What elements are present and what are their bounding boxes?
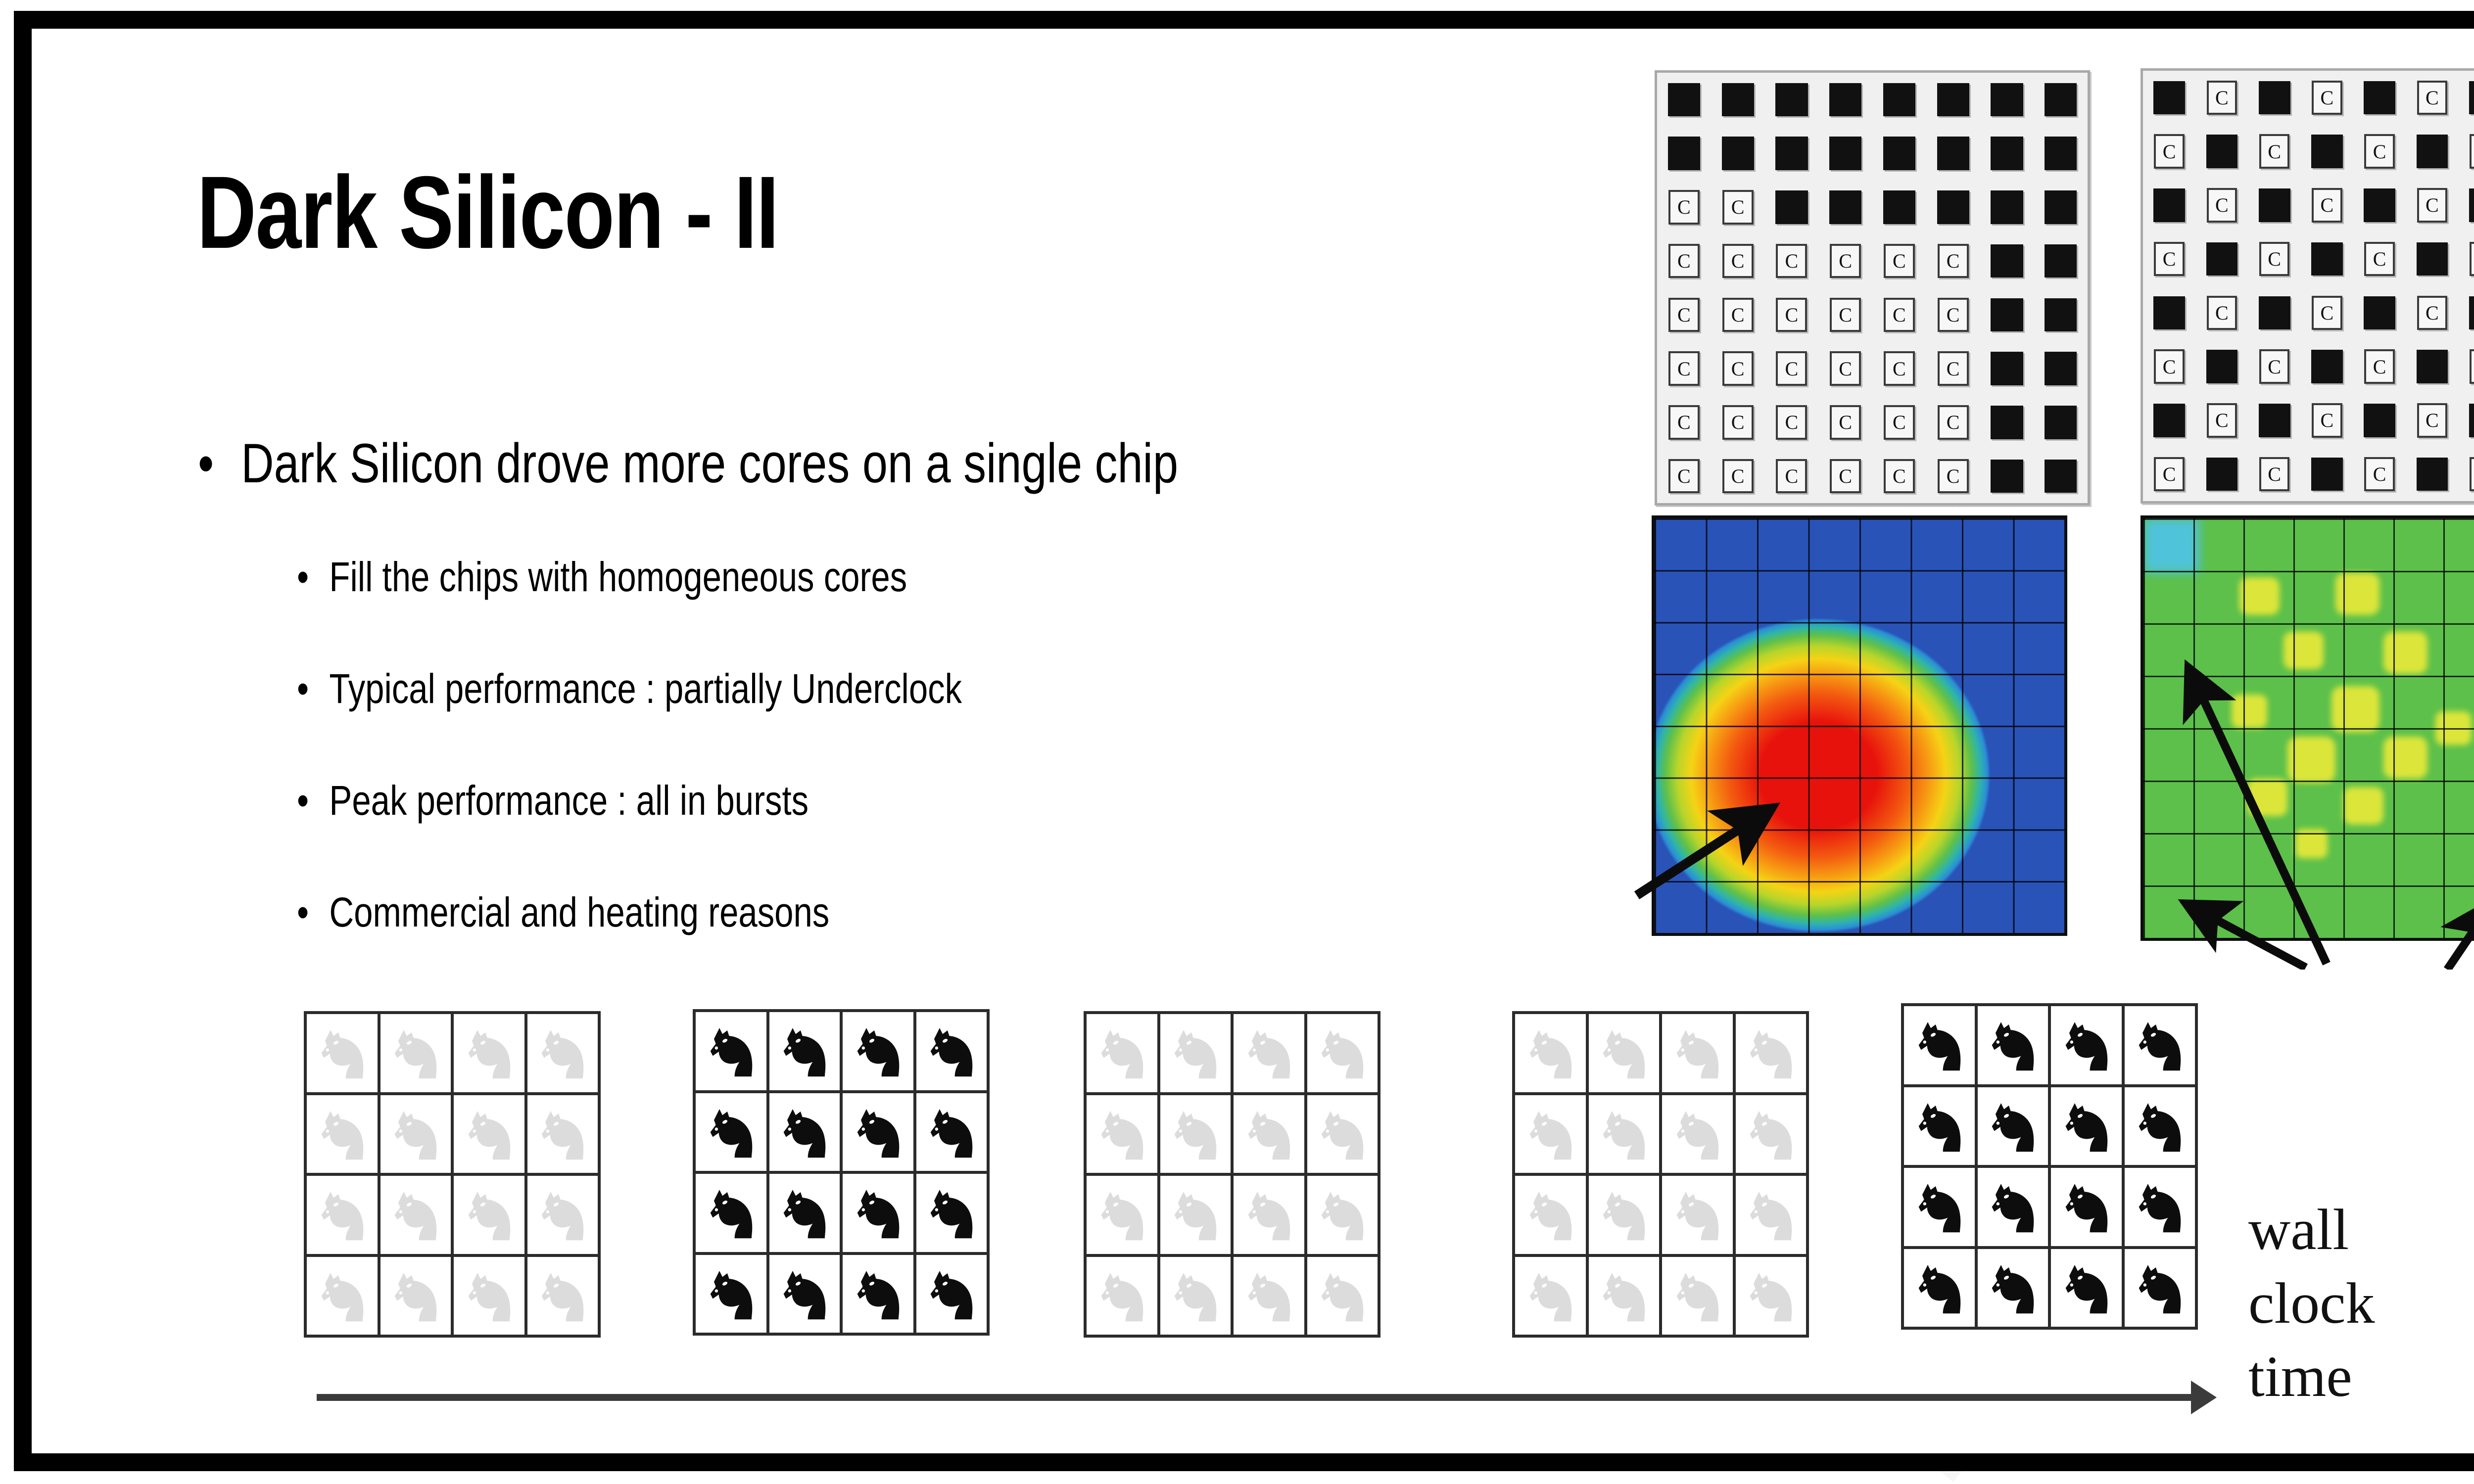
core-cell-idle [1515,1095,1586,1173]
chess-knight-icon [385,1101,446,1167]
core-label: C [1884,244,1915,278]
dark-silicon-block [2364,404,2395,437]
chip-core-cell: C [1872,342,1926,396]
chip-core-cell: C [2353,125,2406,179]
chess-knight-icon [1909,1012,1970,1078]
chip-core-cell: C [1657,234,1711,288]
core-label: C [1722,459,1754,494]
core-cell-idle [1087,1014,1157,1092]
chess-knight-icon [1092,1020,1152,1086]
chip-dark-cell [2301,232,2353,286]
chip-dark-cell [2034,73,2088,127]
bullet-text: Typical performance : partially Underclo… [329,665,962,712]
chess-knight-icon [701,1260,761,1327]
chip-dark-cell [1872,181,1926,234]
dark-silicon-block [1883,190,1915,224]
chip-core-cell: C [1926,234,1980,288]
core-label: C [2312,403,2342,438]
dark-silicon-block [1991,137,2023,170]
chip-core-cell: C [2459,232,2474,286]
core-cell-idle [1307,1014,1378,1092]
chip-core-cell: C [1926,288,1980,342]
chip-dark-cell [2143,286,2195,340]
chess-knight-icon [1909,1093,1970,1159]
chip-dark-cell [2301,340,2353,394]
dark-silicon-block [1883,137,1915,170]
core-label: C [2417,296,2448,330]
dark-silicon-block [2469,81,2474,114]
chip-core-cell: C [1926,449,1980,503]
core-cell-idle [1515,1257,1586,1335]
chess-knight-icon [774,1099,835,1165]
dark-silicon-block [2259,404,2290,437]
core-cell-idle [1515,1014,1586,1092]
chess-knight-icon [1740,1262,1801,1329]
chip-core-cell: C [2353,340,2406,394]
chess-knight-icon [1238,1181,1299,1248]
chess-knight-icon [774,1179,835,1246]
chess-knight-icon [532,1020,593,1086]
core-cell-idle [1662,1257,1733,1335]
chip-diagram-underclocked: CCCCCCCCCCCCCCCCCCCCCCCCCCCCCCCC [1655,70,2090,506]
chess-knight-icon [459,1181,520,1248]
chip-dark-cell [2195,232,2248,286]
chip-dark-cell [2459,286,2474,340]
core-cell-active [2125,1006,2195,1084]
chip-dark-cell [1711,127,1765,181]
wall-clock-timeline-axis [317,1394,2197,1401]
core-label: C [2312,81,2342,115]
core-cell-active [769,1255,840,1333]
core-cell-active [1978,1006,2048,1084]
chess-knight-icon [1740,1181,1801,1248]
chess-knight-icon [1312,1101,1373,1167]
dark-silicon-block [1991,352,2023,385]
chip-core-cell: C [1818,449,1872,503]
chess-knight-icon [1238,1262,1299,1329]
dark-silicon-block [1991,190,2023,224]
core-cell-idle [1160,1014,1231,1092]
chip-dark-cell [2406,447,2458,501]
core-label: C [1830,459,1861,494]
chip-core-cell: C [2353,232,2406,286]
dark-silicon-block [2045,244,2077,278]
chess-knight-icon [848,1179,908,1246]
core-cell-idle [1589,1257,1660,1335]
chess-knight-icon [2129,1012,2190,1078]
chip-core-cell: C [2459,447,2474,501]
chip-core-cell: C [2143,232,2195,286]
chess-knight-icon [312,1020,373,1086]
timeline-axis-label-line: clock [2248,1267,2375,1341]
core-label: C [2364,242,2395,277]
chip-dark-cell [2034,288,2088,342]
chip-dark-cell [2248,71,2301,125]
core-cell-idle [1234,1176,1304,1254]
chip-core-cell: C [2459,340,2474,394]
chess-knight-icon [532,1101,593,1167]
core-cell-idle [1589,1095,1660,1173]
core-label: C [1884,298,1915,332]
bullet-level2-2: •Peak performance : all in bursts [297,777,809,825]
chip-dark-cell [1980,288,2034,342]
core-cell-active [843,1255,913,1333]
chess-knight-icon [1667,1181,1728,1248]
chip-dark-cell [2034,181,2088,234]
core-cell-idle [454,1176,524,1254]
core-label: C [2470,134,2474,169]
chip-dark-cell [1657,127,1711,181]
dark-silicon-block [2364,188,2395,222]
chess-knight-icon [1740,1020,1801,1086]
core-cell-idle [1234,1257,1304,1335]
chip-dark-cell [2406,340,2458,394]
core-cell-idle [307,1257,378,1335]
core-label: C [1722,351,1754,386]
core-cell-idle [1087,1176,1157,1254]
core-label: C [1830,298,1861,332]
chip-dark-cell [2248,179,2301,232]
hotspot-arrow [1628,772,1806,920]
core-cell-idle [454,1257,524,1335]
dark-silicon-block [1937,83,1969,116]
core-cell-idle [1307,1095,1378,1173]
core-cell-idle [527,1014,598,1092]
core-cell-active [916,1012,987,1090]
chip-dark-cell [1711,73,1765,127]
chip-dark-cell [2143,394,2195,448]
chess-knight-icon [1520,1181,1581,1248]
core-label: C [1668,459,1700,494]
chip-dark-cell [1980,396,2034,450]
core-label: C [2364,457,2395,492]
dark-silicon-block [2153,81,2185,114]
chip-core-cell: C [1926,396,1980,450]
chip-dark-cell [2248,394,2301,448]
dark-silicon-block [2206,458,2238,491]
chip-dark-cell [2143,179,2195,232]
chess-knight-icon [1982,1093,2043,1159]
core-cell-idle [527,1176,598,1254]
chess-knight-icon [2056,1254,2117,1321]
core-grid-idle-2 [1084,1011,1380,1338]
core-cell-active [1904,1087,1975,1165]
dark-silicon-block [2364,81,2395,114]
core-label: C [2259,242,2290,277]
chess-knight-icon [1982,1254,2043,1321]
core-cell-active [843,1012,913,1090]
chip-dark-cell [1980,234,2034,288]
chess-knight-icon [1238,1101,1299,1167]
core-cell-active [1904,1249,1975,1327]
chess-knight-icon [774,1260,835,1327]
chip-dark-cell [1818,181,1872,234]
core-label: C [2259,457,2290,492]
chip-core-cell: C [2353,447,2406,501]
dark-silicon-block [2417,242,2448,276]
core-cell-idle [1662,1176,1733,1254]
chess-knight-icon [921,1179,982,1246]
chess-knight-icon [2056,1173,2117,1240]
dark-silicon-block [2045,352,2077,385]
chess-knight-icon [2056,1093,2117,1159]
dark-silicon-block [2045,298,2077,331]
chess-knight-icon [1165,1020,1226,1086]
chip-dark-cell [2353,71,2406,125]
timeline-arrowhead-icon [2191,1381,2217,1414]
dark-silicon-block [2206,350,2238,383]
core-label: C [1776,351,1807,386]
core-label: C [2312,296,2342,330]
core-cell-idle [307,1176,378,1254]
chip-core-cell: C [1765,234,1819,288]
core-cell-idle [1736,1095,1807,1173]
core-label: C [1776,405,1807,440]
chip-dark-cell [2353,286,2406,340]
core-label: C [1938,405,1969,440]
chess-knight-icon [1520,1020,1581,1086]
timeline-axis-label-line: time [2248,1340,2375,1414]
chip-core-cell: C [1657,181,1711,234]
core-label: C [1830,351,1861,386]
core-cell-active [1978,1087,2048,1165]
chip-dark-cell [1818,127,1872,181]
chip-core-cell: C [2195,179,2248,232]
chess-knight-icon [701,1018,761,1084]
core-cell-idle [381,1014,451,1092]
chip-dark-cell [1980,181,2034,234]
dark-silicon-block [2045,406,2077,439]
dark-silicon-block [2364,296,2395,329]
core-label: C [2470,457,2474,492]
chip-diagram-checkerboard: CCCCCCCCCCCCCCCCCCCCCCCCCCCCCCCC [2141,68,2474,504]
core-cell-idle [1589,1176,1660,1254]
chess-knight-icon [312,1262,373,1329]
dark-silicon-block [2153,296,2185,329]
dark-silicon-block [2045,83,2077,116]
chip-dark-cell [1765,181,1819,234]
core-label: C [2154,349,2185,384]
dark-silicon-block [2206,242,2238,276]
chess-knight-icon [1667,1020,1728,1086]
core-grid-active-1 [693,1009,990,1336]
core-cell-active [2051,1168,2122,1246]
chip-core-cell: C [1926,342,1980,396]
dark-silicon-block [1991,83,2023,116]
chip-core-cell: C [1711,342,1765,396]
chip-core-cell: C [1872,449,1926,503]
chip-dark-cell [1980,342,2034,396]
chip-core-cell: C [1711,234,1765,288]
chip-core-cell: C [2406,71,2458,125]
core-grid-idle-3 [1512,1011,1809,1338]
core-label: C [2154,457,2185,492]
core-cell-idle [1736,1014,1807,1092]
chess-knight-icon [1520,1262,1581,1329]
chip-dark-cell [2034,234,2088,288]
dark-silicon-block [2311,458,2343,491]
chip-core-cell: C [1765,396,1819,450]
core-cell-active [769,1174,840,1252]
chess-knight-icon [1909,1254,1970,1321]
dark-silicon-block [1668,137,1700,170]
core-cell-idle [1662,1095,1733,1173]
dark-silicon-block [2153,404,2185,437]
core-label: C [1722,244,1754,278]
core-cell-active [2051,1249,2122,1327]
core-label: C [2470,242,2474,277]
core-cell-idle [1589,1014,1660,1092]
chip-core-cell: C [1818,288,1872,342]
core-label: C [1668,405,1700,440]
chip-core-cell: C [1711,449,1765,503]
dark-silicon-block [1829,83,1861,116]
core-cell-active [2125,1168,2195,1246]
core-cell-active [1904,1006,1975,1084]
core-label: C [1668,351,1700,386]
chip-dark-cell [1872,73,1926,127]
dark-silicon-block [1775,83,1808,116]
core-label: C [1668,244,1700,278]
core-cell-idle [1234,1095,1304,1173]
bullet-marker: • [198,431,241,495]
core-cell-idle [381,1176,451,1254]
chess-knight-icon [312,1101,373,1167]
chip-core-cell: C [2459,125,2474,179]
chip-dark-cell [2301,447,2353,501]
dark-silicon-block [1937,137,1969,170]
chess-knight-icon [1312,1262,1373,1329]
bullet-text: Dark Silicon drove more cores on a singl… [241,432,1178,494]
core-label: C [2207,188,2237,223]
timeline-axis-label-line: wall [2248,1193,2375,1267]
core-cell-idle [1087,1257,1157,1335]
core-cell-idle [307,1095,378,1173]
core-label: C [2312,188,2342,223]
dark-silicon-block [1991,460,2023,493]
chip-core-cell: C [1711,288,1765,342]
core-label: C [2207,403,2237,438]
chip-core-cell: C [2143,125,2195,179]
core-label: C [2417,188,2448,223]
chess-knight-icon [1593,1101,1654,1167]
chess-knight-icon [1982,1012,2043,1078]
dark-silicon-block [2469,296,2474,329]
chip-dark-cell [2353,394,2406,448]
bullet-text: Peak performance : all in bursts [329,777,809,824]
chess-knight-icon [459,1020,520,1086]
page-title: Dark Silicon - II [197,161,778,264]
chip-core-cell: C [1765,342,1819,396]
core-cell-active [769,1093,840,1171]
dark-silicon-block [2259,296,2290,329]
core-cell-active [696,1012,766,1090]
core-cell-idle [527,1095,598,1173]
chip-core-cell: C [1657,449,1711,503]
core-cell-active [696,1255,766,1333]
core-label: C [2207,296,2237,330]
dark-silicon-block [1722,83,1754,116]
dark-silicon-block [1668,83,1700,116]
core-label: C [1938,244,1969,278]
chess-knight-icon [532,1262,593,1329]
chip-core-cell: C [2195,286,2248,340]
dark-silicon-block [1775,137,1808,170]
chip-core-cell: C [2143,447,2195,501]
core-cell-idle [527,1257,598,1335]
core-cell-idle [1160,1257,1231,1335]
chip-core-cell: C [2406,394,2458,448]
chip-core-cell: C [2143,340,2195,394]
core-label: C [1722,190,1754,225]
core-cell-active [2051,1087,2122,1165]
chess-knight-icon [385,1020,446,1086]
dark-silicon-block [2469,404,2474,437]
core-label: C [2154,134,2185,169]
core-label: C [1938,298,1969,332]
chip-dark-cell [1980,73,2034,127]
core-cell-active [843,1174,913,1252]
chess-knight-icon [921,1099,982,1165]
core-label: C [1668,298,1700,332]
chip-core-cell: C [1872,234,1926,288]
chess-knight-icon [1312,1181,1373,1248]
chess-knight-icon [2129,1093,2190,1159]
chip-core-cell: C [1765,288,1819,342]
chess-knight-icon [1165,1181,1226,1248]
chip-dark-cell [2459,179,2474,232]
dark-silicon-block [2045,460,2077,493]
chess-knight-icon [1238,1020,1299,1086]
chip-core-cell: C [2195,394,2248,448]
chess-knight-icon [2129,1254,2190,1321]
core-label: C [2470,349,2474,384]
core-cell-idle [1307,1176,1378,1254]
dark-silicon-block [1829,137,1861,170]
chess-knight-icon [1165,1101,1226,1167]
dark-silicon-block [1775,190,1808,224]
dark-silicon-block [2045,137,2077,170]
chip-dark-cell [1765,127,1819,181]
chess-knight-icon [1165,1262,1226,1329]
core-cell-active [843,1093,913,1171]
chip-core-cell: C [1818,342,1872,396]
dark-silicon-block [1829,190,1861,224]
chess-knight-icon [774,1018,835,1084]
chess-knight-icon [459,1101,520,1167]
chess-knight-icon [2129,1173,2190,1240]
chip-core-cell: C [1872,288,1926,342]
core-label: C [1884,459,1915,494]
core-cell-active [769,1012,840,1090]
chip-core-cell: C [1657,396,1711,450]
chip-dark-cell [2034,342,2088,396]
core-cell-idle [381,1095,451,1173]
chip-core-cell: C [2195,71,2248,125]
chess-knight-icon [385,1181,446,1248]
dark-silicon-block [2311,350,2343,383]
chip-dark-cell [2195,447,2248,501]
dark-silicon-block [2417,458,2448,491]
core-label: C [1722,298,1754,332]
core-label: C [1830,244,1861,278]
chess-knight-icon [1520,1101,1581,1167]
chip-dark-cell [1926,127,1980,181]
chip-dark-cell [1926,73,1980,127]
bullet-marker: • [297,553,329,601]
core-label: C [2207,81,2237,115]
dark-silicon-block [2417,135,2448,168]
